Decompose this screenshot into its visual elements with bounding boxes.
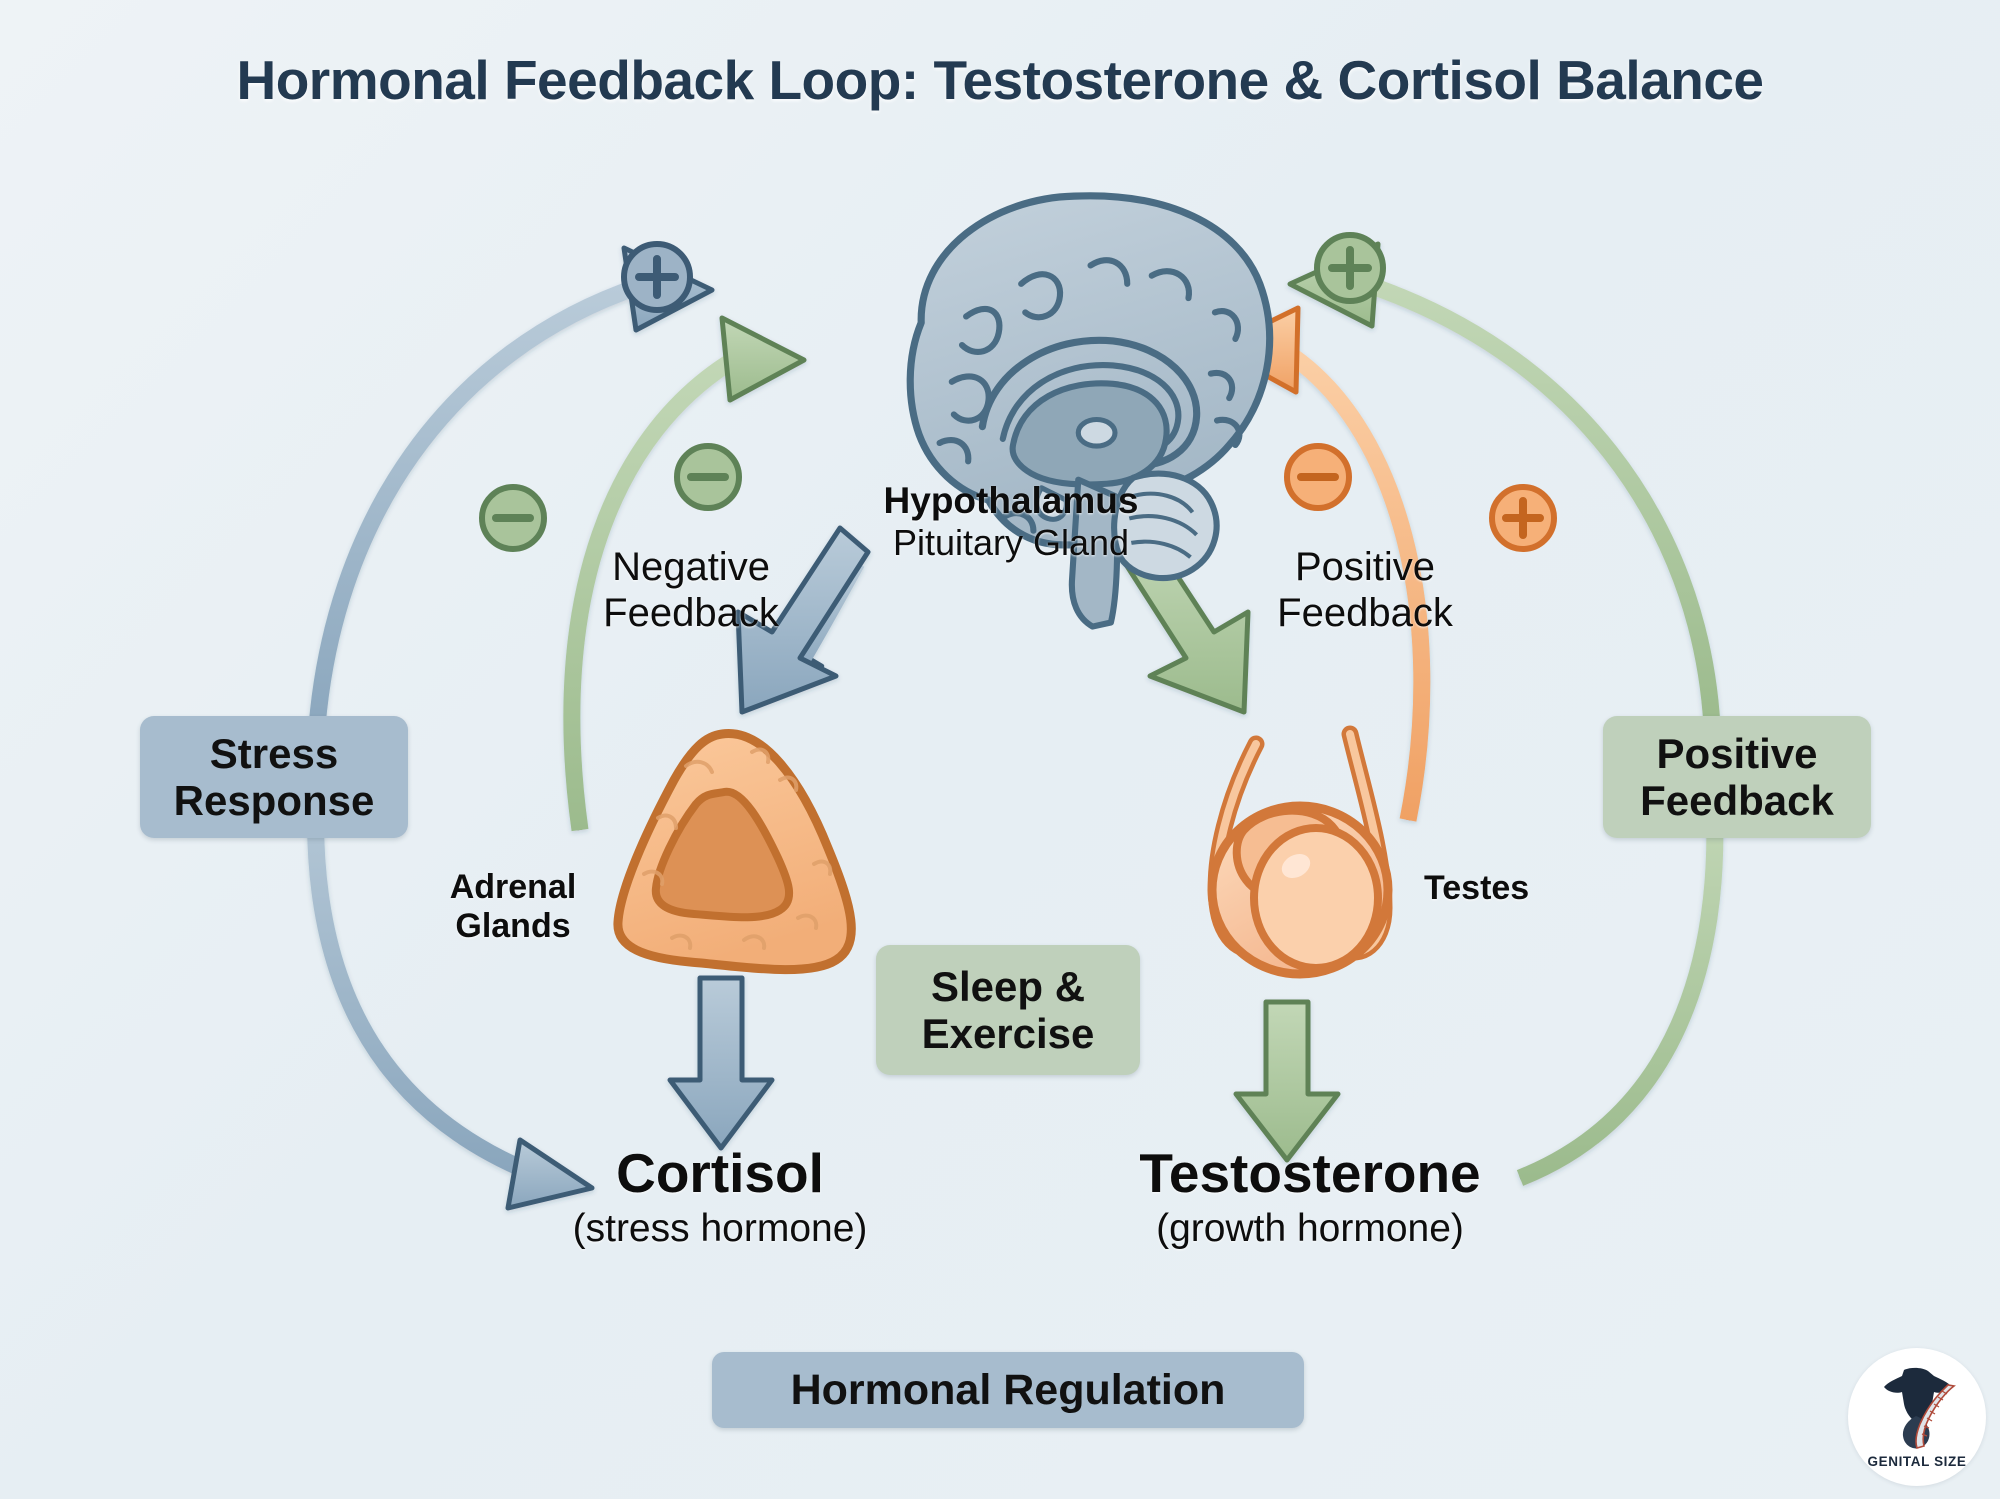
adrenal-gland-illustration xyxy=(618,734,851,970)
negative-feedback-line1: Negative xyxy=(556,545,826,591)
badge-stress-line1: Stress xyxy=(210,730,338,777)
positive-feedback-line1: Positive xyxy=(1230,545,1500,591)
label-testosterone: Testosterone (growth hormone) xyxy=(1080,1142,1540,1251)
arrow-adrenal-to-cortisol xyxy=(670,978,772,1148)
badge-sleep-line2: Exercise xyxy=(922,1010,1095,1057)
testes-text: Testes xyxy=(1424,869,1604,908)
badge-positive-line1: Positive xyxy=(1656,730,1817,777)
plus-badge-orange xyxy=(1492,487,1554,549)
arrow-testes-to-testosterone xyxy=(1236,1002,1338,1160)
badge-regulation-text: Hormonal Regulation xyxy=(791,1366,1226,1414)
testes-illustration xyxy=(1212,734,1388,974)
brand-logo[interactable]: GENITAL SIZE xyxy=(1848,1348,1986,1486)
badge-stress-line2: Response xyxy=(174,777,375,824)
badge-stress-response[interactable]: Stress Response xyxy=(140,716,408,838)
logo-text: GENITAL SIZE xyxy=(1868,1454,1967,1469)
label-testes: Testes xyxy=(1424,869,1604,908)
label-cortisol: Cortisol (stress hormone) xyxy=(500,1142,940,1251)
label-adrenal-glands: Adrenal Glands xyxy=(408,868,618,946)
arrow-positive-feedback-outer-arc xyxy=(1290,244,1715,1178)
cortisol-title: Cortisol xyxy=(500,1142,940,1205)
minus-badge-green-inner xyxy=(677,446,739,508)
badge-positive-feedback[interactable]: Positive Feedback xyxy=(1603,716,1871,838)
minus-badge-green-left xyxy=(482,487,544,549)
page-title: Hormonal Feedback Loop: Testosterone & C… xyxy=(0,48,2000,112)
label-positive-feedback: Positive Feedback xyxy=(1230,545,1500,636)
badge-sleep-line1: Sleep & xyxy=(931,963,1085,1010)
adrenal-line2: Glands xyxy=(408,907,618,946)
hypothalamus-bold: Hypothalamus xyxy=(826,480,1196,522)
positive-feedback-line2: Feedback xyxy=(1230,591,1500,637)
badge-positive-line2: Feedback xyxy=(1640,777,1834,824)
testosterone-title: Testosterone xyxy=(1080,1142,1540,1205)
pituitary-gland-text: Pituitary Gland xyxy=(826,522,1196,563)
label-negative-feedback: Negative Feedback xyxy=(556,545,826,636)
torso-measuring-tape-icon xyxy=(1878,1366,1956,1452)
badge-sleep-exercise[interactable]: Sleep & Exercise xyxy=(876,945,1140,1075)
plus-badge-green-right xyxy=(1317,235,1383,301)
badge-hormonal-regulation[interactable]: Hormonal Regulation xyxy=(712,1352,1304,1428)
minus-badge-orange xyxy=(1287,446,1349,508)
negative-feedback-line2: Feedback xyxy=(556,591,826,637)
plus-badge-blue xyxy=(624,244,690,310)
testosterone-subtitle: (growth hormone) xyxy=(1080,1207,1540,1251)
cortisol-subtitle: (stress hormone) xyxy=(500,1207,940,1251)
adrenal-line1: Adrenal xyxy=(408,868,618,907)
diagram-canvas: Hormonal Feedback Loop: Testosterone & C… xyxy=(0,0,2000,1499)
label-hypothalamus: Hypothalamus Pituitary Gland xyxy=(826,480,1196,563)
